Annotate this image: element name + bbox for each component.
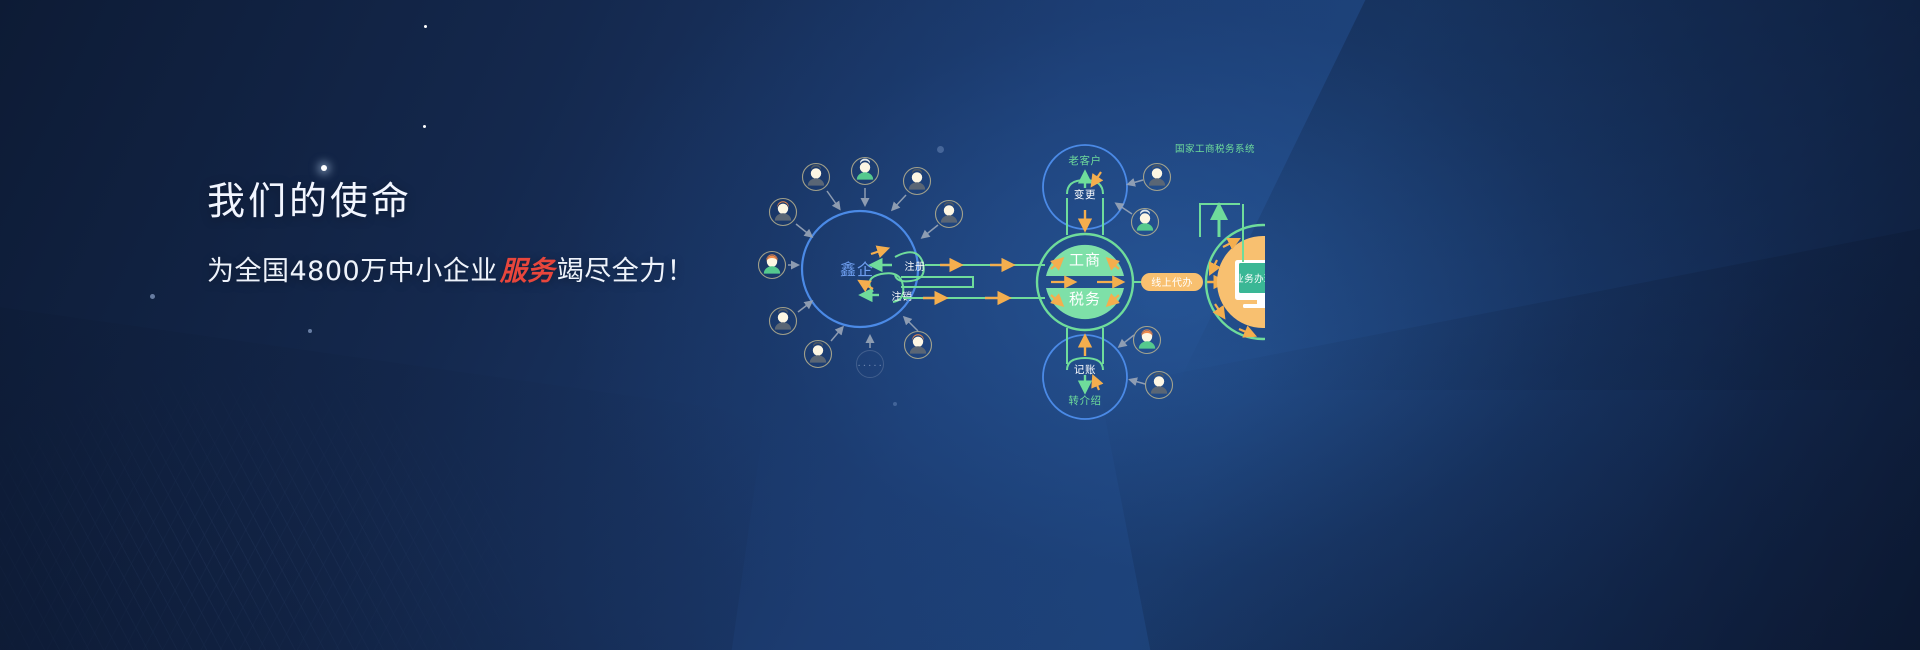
service-flow-diagram: 鑫企 • • • • • (745, 132, 1265, 422)
decorative-grid-texture (0, 230, 760, 650)
old-customer-group: 老客户 变更 (1043, 145, 1127, 235)
avatar (905, 332, 932, 359)
sparkle-dot (308, 329, 312, 333)
node-label-old-customer: 老客户 (1068, 154, 1101, 167)
avatar (1134, 327, 1161, 354)
avatar (770, 308, 797, 335)
label-national-system: 国家工商税务系统 (1175, 143, 1255, 155)
sparkle-dot (321, 165, 327, 171)
hub-label-business: 工商 (1069, 251, 1101, 269)
sparkle-dot (423, 125, 426, 128)
node-label-referral: 转介绍 (1068, 394, 1101, 407)
center-label-xinqi: 鑫企 (840, 260, 874, 279)
flow-label-register: 注册 (905, 260, 926, 273)
avatar (1144, 164, 1171, 191)
subtitle-text-after: 竭尽全力！ (557, 256, 695, 287)
sparkle-dot (424, 25, 427, 28)
online-agent-pill: 线上代办 (1133, 273, 1223, 291)
node-label-bookkeeping: 记账 (1074, 364, 1096, 376)
avatar (770, 199, 797, 226)
monitor-neck (1257, 300, 1265, 304)
subtitle-text-before: 为全国4800万中小企业 (207, 256, 498, 287)
flow-rail-arrows (923, 265, 1011, 298)
flow-label-cancel: 注销 (892, 290, 913, 303)
avatar (1132, 209, 1159, 236)
national-system-group: 国家工商税务系统 (1175, 143, 1255, 262)
avatar (904, 168, 931, 195)
avatar (803, 164, 830, 191)
ellipsis-label: • • • • • (858, 364, 882, 369)
pill-label-online-agent: 线上代办 (1151, 276, 1193, 289)
node-label-change: 变更 (1074, 188, 1096, 201)
hub-group: 工商 税务 (1037, 234, 1133, 330)
hero-banner: 我们的使命 为全国4800万中小企业服务竭尽全力！ (0, 0, 1920, 650)
monitor-base (1243, 304, 1265, 308)
mission-subtitle: 为全国4800万中小企业服务竭尽全力！ (207, 254, 694, 289)
mission-copy-block: 我们的使命 为全国4800万中小企业服务竭尽全力！ (207, 178, 694, 289)
subtitle-highlight: 服务 (498, 256, 557, 287)
avatar (852, 158, 879, 185)
sparkle-dot (150, 294, 155, 299)
avatar (805, 341, 832, 368)
hub-label-tax: 税务 (1069, 290, 1101, 308)
page-title: 我们的使命 (207, 178, 694, 226)
avatar (1146, 372, 1173, 399)
avatar (936, 201, 963, 228)
customer-ring-group: 鑫企 (802, 211, 918, 327)
monitor-label: 业务办理系统 (1234, 273, 1265, 285)
bookkeeping-group: 记账 转介绍 (1043, 328, 1127, 419)
avatar (759, 252, 786, 279)
